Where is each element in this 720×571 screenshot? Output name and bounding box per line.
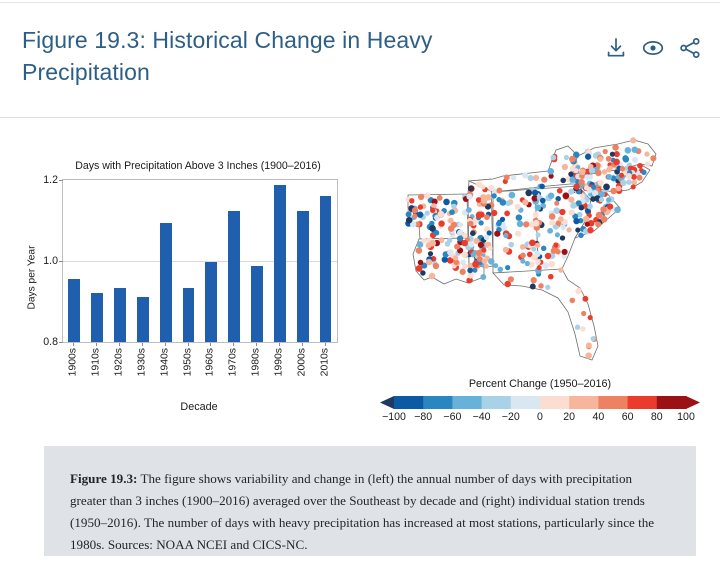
- page-title: Figure 19.3: Historical Change in Heavy …: [22, 24, 522, 88]
- station-dot: [517, 221, 524, 228]
- colorbar-legend: Percent Change (1950–2016) −100−80−60−40…: [380, 378, 700, 434]
- station-dot: [599, 197, 604, 202]
- station-dot: [515, 204, 521, 210]
- x-tick-mark: [165, 343, 166, 346]
- station-dot: [579, 169, 585, 175]
- colorbar-tick: −40: [473, 411, 491, 423]
- bar-slot: [86, 180, 109, 342]
- bar-slot: [268, 180, 291, 342]
- colorbar-title: Percent Change (1950–2016): [380, 378, 700, 390]
- station-dot: [470, 231, 476, 237]
- station-dot: [622, 155, 628, 161]
- station-dot: [644, 151, 649, 156]
- x-tick-label: 1920s: [114, 348, 125, 376]
- station-dot: [434, 230, 440, 236]
- station-dot: [603, 149, 608, 154]
- station-dot: [531, 247, 536, 252]
- bar-series: [63, 180, 337, 342]
- x-tick-label: 1900s: [68, 348, 79, 376]
- station-dot: [545, 285, 550, 290]
- station-dot: [573, 218, 579, 224]
- colorbar-tick: −20: [502, 411, 520, 423]
- bar-slot: [154, 180, 177, 342]
- station-dot: [603, 184, 610, 191]
- bar-chart-panel: Days with Precipitation Above 3 Inches (…: [14, 160, 344, 432]
- station-dot: [560, 225, 566, 231]
- station-dot: [471, 252, 476, 257]
- bar-slot: [291, 180, 314, 342]
- bar-2000s: [297, 211, 309, 342]
- station-dot: [632, 157, 638, 163]
- station-dot: [438, 211, 444, 217]
- station-dot: [421, 238, 427, 244]
- station-dot: [584, 185, 589, 190]
- station-dot: [600, 206, 606, 212]
- station-dot: [606, 174, 612, 180]
- figure-caption: Figure 19.3: The figure shows variabilit…: [44, 446, 696, 556]
- station-dot: [467, 268, 473, 274]
- station-dot: [619, 173, 624, 178]
- x-tick-slot: 1980s: [245, 343, 268, 389]
- station-dot: [585, 154, 591, 160]
- station-dot: [461, 240, 468, 247]
- station-dot: [498, 267, 504, 273]
- bar-slot: [109, 180, 132, 342]
- station-dot: [480, 274, 486, 280]
- y-tick-label: 1.0: [43, 255, 58, 267]
- station-dot: [610, 188, 616, 194]
- station-dot: [451, 204, 456, 209]
- station-dot: [645, 161, 650, 166]
- station-dot: [631, 146, 637, 152]
- station-dot: [563, 192, 570, 199]
- x-tick-label: 1960s: [205, 348, 216, 376]
- station-dot: [476, 250, 483, 257]
- x-tick-mark: [96, 343, 97, 346]
- figure-page: Figure 19.3: Historical Change in Heavy …: [0, 0, 720, 571]
- station-dot: [562, 164, 568, 170]
- station-dot: [547, 228, 553, 234]
- station-dot: [637, 163, 643, 169]
- station-dot: [578, 233, 584, 239]
- station-dot: [466, 194, 472, 200]
- station-dot: [500, 217, 505, 222]
- station-dot: [528, 175, 534, 181]
- x-tick-slot: 1970s: [222, 343, 245, 389]
- station-dot: [503, 233, 508, 238]
- colorbar-tick: 20: [563, 411, 575, 423]
- x-tick-slot: 2000s: [290, 343, 313, 389]
- station-dot: [488, 258, 495, 265]
- x-tick-slot: 1990s: [267, 343, 290, 389]
- station-dot: [418, 194, 424, 200]
- station-dot: [508, 242, 514, 248]
- station-dot: [589, 167, 595, 173]
- x-tick-slot: 1900s: [62, 343, 85, 389]
- station-dot: [625, 147, 632, 154]
- station-dot: [533, 220, 540, 227]
- x-tick-slot: 1910s: [85, 343, 108, 389]
- bar-2010s: [320, 196, 332, 342]
- station-dot: [581, 311, 586, 316]
- station-dot: [533, 212, 539, 218]
- station-dot: [650, 155, 656, 161]
- x-tick-label: 1930s: [136, 348, 147, 376]
- station-dot: [555, 232, 560, 237]
- station-dot: [533, 175, 539, 181]
- station-dot: [406, 217, 412, 223]
- station-dot: [484, 214, 490, 220]
- station-dot: [417, 212, 423, 218]
- bar-slot: [246, 180, 269, 342]
- station-dot: [454, 244, 460, 250]
- station-dot: [534, 251, 540, 257]
- station-dot: [596, 212, 603, 219]
- station-dot: [491, 193, 496, 198]
- bar-1930s: [137, 297, 149, 342]
- station-dot: [448, 225, 454, 231]
- station-dot: [505, 265, 510, 270]
- station-dot: [553, 207, 560, 214]
- station-dot: [522, 172, 528, 178]
- station-dot: [575, 325, 580, 330]
- station-dot: [583, 216, 590, 223]
- colorbar-tick: 80: [651, 411, 663, 423]
- top-rule: [0, 2, 720, 3]
- station-dot: [620, 166, 625, 171]
- x-tick-slot: 1950s: [176, 343, 199, 389]
- station-dot: [610, 152, 615, 157]
- station-trend-map-panel: Percent Change (1950–2016) −100−80−60−40…: [372, 134, 708, 434]
- station-dot: [504, 174, 510, 180]
- station-dot: [580, 194, 585, 199]
- bar-1940s: [160, 223, 172, 342]
- x-tick-label: 1940s: [159, 348, 170, 376]
- bar-1950s: [183, 288, 195, 342]
- station-dot: [545, 253, 551, 259]
- x-tick-mark: [142, 343, 143, 346]
- station-dot: [520, 244, 526, 250]
- x-axis-ticks: 1900s1910s1920s1930s1940s1950s1960s1970s…: [62, 343, 336, 389]
- station-dot: [588, 174, 593, 179]
- station-dot: [525, 190, 532, 197]
- station-dot: [488, 185, 494, 191]
- station-dot: [585, 352, 592, 359]
- station-dot: [547, 168, 554, 175]
- station-dot: [554, 201, 559, 206]
- bar-1910s: [91, 293, 103, 342]
- x-tick-slot: 1940s: [153, 343, 176, 389]
- station-dot: [484, 235, 490, 241]
- station-dot: [488, 246, 493, 251]
- station-dot: [595, 170, 601, 176]
- station-dot: [575, 289, 581, 295]
- station-dot: [637, 175, 643, 181]
- station-dot: [570, 298, 576, 304]
- station-dot: [537, 265, 542, 270]
- bar-slot: [223, 180, 246, 342]
- station-dot: [570, 202, 577, 209]
- station-dot: [461, 251, 467, 257]
- station-dot: [428, 251, 433, 256]
- y-tick-mark: [59, 180, 63, 181]
- station-dot: [468, 221, 474, 227]
- station-dot: [429, 240, 436, 247]
- x-tick-slot: 1920s: [108, 343, 131, 389]
- station-dot: [585, 222, 590, 227]
- station-dot: [613, 159, 620, 166]
- station-dot: [602, 169, 608, 175]
- station-dot: [500, 199, 507, 206]
- station-dot: [438, 220, 444, 226]
- station-dot: [558, 267, 563, 272]
- x-tick-slot: 1960s: [199, 343, 222, 389]
- colorbar-tick: 100: [677, 411, 695, 423]
- station-dot: [529, 239, 536, 246]
- station-dot: [587, 203, 593, 209]
- station-dot: [511, 175, 516, 180]
- x-tick-mark: [302, 343, 303, 346]
- station-dot: [568, 197, 574, 203]
- station-dot: [612, 144, 619, 151]
- y-tick-mark: [59, 261, 63, 262]
- station-dot: [478, 242, 484, 248]
- station-dot: [493, 263, 498, 268]
- station-dot: [597, 156, 603, 162]
- station-dot: [481, 197, 488, 204]
- station-dot: [484, 263, 489, 268]
- station-dot: [548, 274, 554, 280]
- station-dot: [582, 296, 588, 302]
- y-tick-label: 1.2: [43, 174, 58, 186]
- bar-slot: [314, 180, 337, 342]
- view-icon[interactable]: [641, 36, 665, 60]
- x-tick-label: 1950s: [182, 348, 193, 376]
- bar-slot: [63, 180, 86, 342]
- station-dot: [491, 210, 497, 216]
- bar-1980s: [251, 266, 263, 342]
- x-tick-label: 1990s: [273, 348, 284, 376]
- station-dot: [458, 222, 463, 227]
- station-dot: [595, 221, 601, 227]
- station-dot: [538, 283, 544, 289]
- station-dot: [632, 180, 637, 185]
- station-dot: [606, 197, 611, 202]
- station-dot: [591, 185, 596, 190]
- colorbar-tick-labels: −100−80−60−40−20020406080100: [380, 411, 700, 431]
- station-dot: [587, 227, 593, 233]
- station-dot: [504, 211, 510, 217]
- bar-chart-xlabel: Decade: [62, 401, 336, 413]
- bar-1960s: [205, 262, 217, 342]
- bar-1900s: [68, 279, 80, 342]
- station-dot: [460, 260, 465, 265]
- station-dot: [631, 174, 637, 180]
- station-dot: [525, 261, 530, 266]
- station-dot: [457, 236, 463, 242]
- station-dot: [416, 265, 423, 272]
- x-tick-mark: [119, 343, 120, 346]
- station-dot: [535, 242, 540, 247]
- x-tick-mark: [73, 343, 74, 346]
- station-dot: [462, 233, 468, 239]
- station-dot: [445, 241, 451, 247]
- station-dot: [531, 277, 537, 283]
- station-dot: [542, 262, 548, 268]
- station-dot: [564, 155, 569, 160]
- y-tick-label: 0.8: [43, 336, 58, 348]
- station-dot: [548, 192, 554, 198]
- station-dot: [503, 247, 509, 253]
- station-dot: [453, 255, 458, 260]
- x-tick-mark: [279, 343, 280, 346]
- x-tick-mark: [233, 343, 234, 346]
- station-dot: [549, 213, 556, 220]
- station-dot: [574, 168, 579, 173]
- station-dot: [425, 210, 430, 215]
- station-dot: [573, 184, 579, 190]
- colorbar-tick: 40: [592, 411, 604, 423]
- station-dot: [426, 259, 432, 265]
- x-tick-label: 1970s: [228, 348, 239, 376]
- x-tick-label: 1980s: [251, 348, 262, 376]
- station-dot: [429, 273, 436, 280]
- station-dot: [560, 178, 566, 184]
- bar-chart-plot-area: 0.81.01.2: [62, 179, 338, 343]
- x-tick-mark: [188, 343, 189, 346]
- station-dot: [460, 269, 466, 275]
- colorbar-tick: 0: [537, 411, 543, 423]
- station-dot: [607, 204, 613, 210]
- station-dot: [476, 212, 483, 219]
- station-dot: [535, 204, 542, 211]
- bar-chart-title: Days with Precipitation Above 3 Inches (…: [52, 160, 344, 172]
- station-dot: [443, 199, 450, 206]
- station-dot: [641, 170, 646, 175]
- station-dot: [541, 246, 546, 251]
- station-dot: [520, 259, 525, 264]
- station-dot: [588, 315, 593, 320]
- colorbar-gradient: [380, 396, 700, 409]
- caption-label: Figure 19.3:: [70, 471, 137, 486]
- station-dot: [424, 192, 430, 198]
- caption-text: The figure shows variability and change …: [70, 471, 654, 552]
- x-tick-mark: [210, 343, 211, 346]
- station-dot: [477, 256, 483, 262]
- station-dot: [508, 276, 514, 282]
- station-dot: [522, 199, 528, 205]
- x-tick-label: 2010s: [319, 348, 330, 376]
- station-dot: [606, 156, 612, 162]
- station-dot: [437, 195, 443, 201]
- station-dot: [575, 228, 580, 233]
- colorbar-tick: 60: [622, 411, 634, 423]
- station-dot: [539, 184, 545, 190]
- station-dot: [566, 227, 571, 232]
- bar-1990s: [274, 185, 286, 342]
- station-dot: [579, 205, 585, 211]
- station-dot: [509, 192, 516, 199]
- station-dot: [590, 336, 595, 341]
- station-dot: [569, 156, 576, 163]
- figure-header: Figure 19.3: Historical Change in Heavy …: [0, 14, 720, 96]
- header-divider: [0, 117, 720, 118]
- station-dot: [412, 207, 418, 213]
- station-dot: [558, 216, 564, 222]
- station-dot: [468, 186, 473, 191]
- station-dot: [496, 188, 502, 194]
- station-dot: [540, 198, 546, 204]
- station-dot: [476, 181, 482, 187]
- station-dot: [536, 232, 541, 237]
- station-dot: [626, 179, 632, 185]
- station-dot: [568, 209, 574, 215]
- bar-slot: [131, 180, 154, 342]
- bar-1920s: [114, 288, 126, 342]
- station-dot: [469, 242, 474, 247]
- station-dot: [515, 231, 521, 237]
- station-dot: [631, 184, 636, 189]
- x-tick-label: 2000s: [296, 348, 307, 376]
- station-dot: [466, 207, 472, 213]
- station-dot: [555, 196, 560, 201]
- station-dot: [580, 326, 585, 331]
- x-tick-label: 1910s: [91, 348, 102, 376]
- x-tick-slot: 2010s: [313, 343, 336, 389]
- station-dot: [549, 220, 555, 226]
- station-dot: [532, 190, 538, 196]
- station-dot: [568, 171, 573, 176]
- station-dot: [494, 231, 500, 237]
- bar-slot: [177, 180, 200, 342]
- station-dot: [607, 165, 612, 170]
- station-dot: [412, 214, 417, 219]
- station-dot: [418, 204, 423, 209]
- station-dot: [626, 173, 632, 179]
- station-dot: [449, 209, 455, 215]
- station-dot: [416, 247, 423, 254]
- bar-1970s: [228, 211, 240, 342]
- station-dot: [586, 342, 592, 348]
- southeast-map: [372, 134, 708, 384]
- station-dot: [541, 177, 547, 183]
- bar-chart-ylabel: Days per Year: [27, 233, 38, 323]
- station-dot: [523, 221, 529, 227]
- station-dot: [505, 200, 511, 206]
- station-dot: [598, 180, 604, 186]
- station-dot: [550, 155, 556, 161]
- share-icon[interactable]: [678, 36, 702, 60]
- figure-body: Days with Precipitation Above 3 Inches (…: [0, 126, 720, 434]
- station-dot: [409, 198, 414, 203]
- station-dot: [562, 249, 568, 255]
- colorbar-tick: −100: [382, 411, 406, 423]
- bar-slot: [200, 180, 223, 342]
- x-tick-slot: 1930s: [130, 343, 153, 389]
- station-dot: [520, 253, 526, 259]
- station-dot: [568, 188, 574, 194]
- station-dot: [630, 137, 636, 143]
- station-dot: [560, 235, 565, 240]
- station-dot: [530, 284, 536, 290]
- station-dot: [578, 179, 584, 185]
- station-dot: [569, 177, 575, 183]
- station-dot: [448, 218, 454, 224]
- figure-actions: [604, 36, 702, 60]
- download-icon[interactable]: [604, 36, 628, 60]
- station-dot: [430, 208, 435, 213]
- x-tick-mark: [256, 343, 257, 346]
